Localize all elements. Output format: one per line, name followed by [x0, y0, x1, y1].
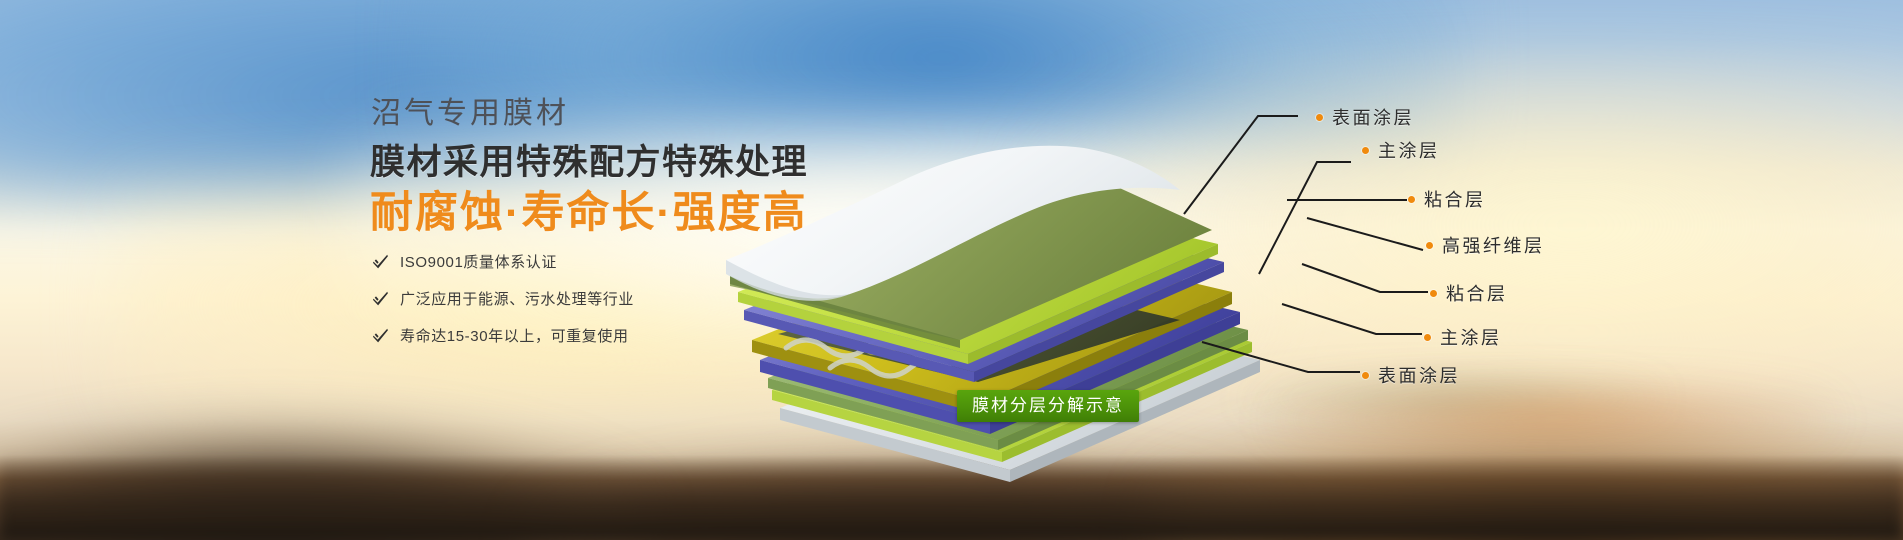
- bullet-dot-icon: [1424, 334, 1431, 341]
- check-icon: [372, 253, 389, 270]
- status-badge: 膜材分层分解示意: [957, 390, 1139, 422]
- bullet-dot-icon: [1430, 290, 1437, 297]
- bullet-dot-icon: [1316, 114, 1323, 121]
- banner-root: 沼气专用膜材 膜材采用特殊配方特殊处理 耐腐蚀·寿命长·强度高 ISO9001质…: [0, 0, 1903, 540]
- membrane-layer-exploded-diagram: [660, 78, 1280, 498]
- bullet-dot-icon: [1408, 196, 1415, 203]
- bullet-dot-icon: [1426, 242, 1433, 249]
- list-item: 广泛应用于能源、污水处理等行业: [372, 288, 634, 309]
- callout-bond-layer-bottom[interactable]: 粘合层: [1430, 280, 1508, 306]
- callout-label: 主涂层: [1440, 324, 1502, 350]
- callout-label: 表面涂层: [1378, 362, 1460, 388]
- callout-label: 主涂层: [1378, 137, 1440, 163]
- list-item: ISO9001质量体系认证: [372, 251, 634, 272]
- check-icon: [372, 327, 389, 344]
- callout-surface-coating-bottom[interactable]: 表面涂层: [1362, 362, 1460, 388]
- bullet-dot-icon: [1362, 372, 1369, 379]
- feature-label: 寿命达15-30年以上，可重复使用: [400, 325, 629, 346]
- callout-main-coating-top[interactable]: 主涂层: [1362, 137, 1440, 163]
- feature-label: 广泛应用于能源、污水处理等行业: [400, 288, 634, 309]
- bullet-dot-icon: [1362, 147, 1369, 154]
- feature-list: ISO9001质量体系认证 广泛应用于能源、污水处理等行业 寿命达15-30年以…: [372, 251, 634, 362]
- callout-label: 表面涂层: [1332, 104, 1414, 130]
- callout-high-strength-fiber[interactable]: 高强纤维层: [1426, 232, 1545, 258]
- list-item: 寿命达15-30年以上，可重复使用: [372, 325, 634, 346]
- callout-label: 粘合层: [1446, 280, 1508, 306]
- callout-label: 粘合层: [1424, 186, 1486, 212]
- check-icon: [372, 290, 389, 307]
- callout-bond-layer-top[interactable]: 粘合层: [1408, 186, 1486, 212]
- callout-main-coating-bottom[interactable]: 主涂层: [1424, 324, 1502, 350]
- feature-label: ISO9001质量体系认证: [400, 251, 557, 272]
- callout-label: 高强纤维层: [1442, 232, 1545, 258]
- callout-surface-coating-top[interactable]: 表面涂层: [1316, 104, 1414, 130]
